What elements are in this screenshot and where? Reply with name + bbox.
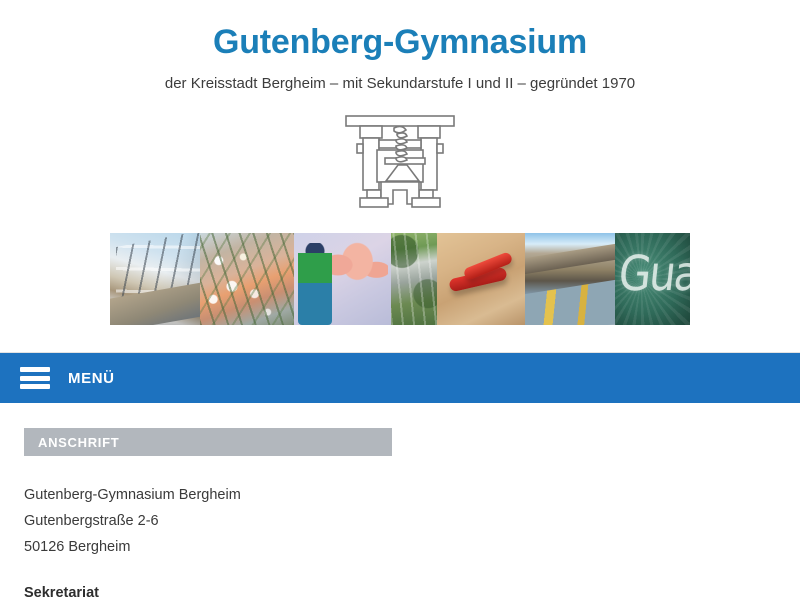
- hamburger-bar-3: [20, 384, 50, 389]
- menu-label[interactable]: MENÜ: [68, 370, 115, 387]
- green-chalkboard-photo: Guay: [615, 233, 690, 325]
- hamburger-icon[interactable]: [20, 367, 50, 389]
- roof-colour-panels-photo: [525, 233, 615, 325]
- section-title: ANSCHRIFT: [38, 435, 119, 450]
- school-facade-photo: [110, 233, 200, 325]
- main-menu-bar[interactable]: MENÜ: [0, 352, 800, 403]
- address-line-city: 50126 Bergheim: [24, 534, 776, 560]
- pause-graffiti-photo: [294, 233, 391, 325]
- schoolyard-trees-photo: [391, 233, 437, 325]
- page-root: Gutenberg-Gymnasium der Kreisstadt Bergh…: [0, 0, 800, 600]
- logo-container: [0, 111, 800, 211]
- flowers-building-photo: [200, 233, 294, 325]
- address-line-street: Gutenbergstraße 2-6: [24, 508, 776, 534]
- chalkboard-text: Guay: [616, 245, 690, 301]
- hamburger-bar-1: [20, 367, 50, 372]
- red-pens-photo: [437, 233, 525, 325]
- photo-strip: Guay: [110, 233, 690, 325]
- main-content: ANSCHRIFT Gutenberg-Gymnasium Bergheim G…: [0, 403, 800, 604]
- page-title: Gutenberg-Gymnasium: [0, 24, 800, 61]
- subheading-sekretariat: Sekretariat: [24, 582, 776, 604]
- address-line-school: Gutenberg-Gymnasium Bergheim: [24, 482, 776, 508]
- address-block: Gutenberg-Gymnasium Bergheim Gutenbergst…: [24, 482, 776, 560]
- printing-press-logo: [341, 112, 459, 210]
- site-header: Gutenberg-Gymnasium der Kreisstadt Bergh…: [0, 0, 800, 93]
- hamburger-bar-2: [20, 376, 50, 381]
- page-subtitle: der Kreisstadt Bergheim – mit Sekundarst…: [0, 75, 800, 93]
- section-header-anschrift: ANSCHRIFT: [24, 428, 392, 456]
